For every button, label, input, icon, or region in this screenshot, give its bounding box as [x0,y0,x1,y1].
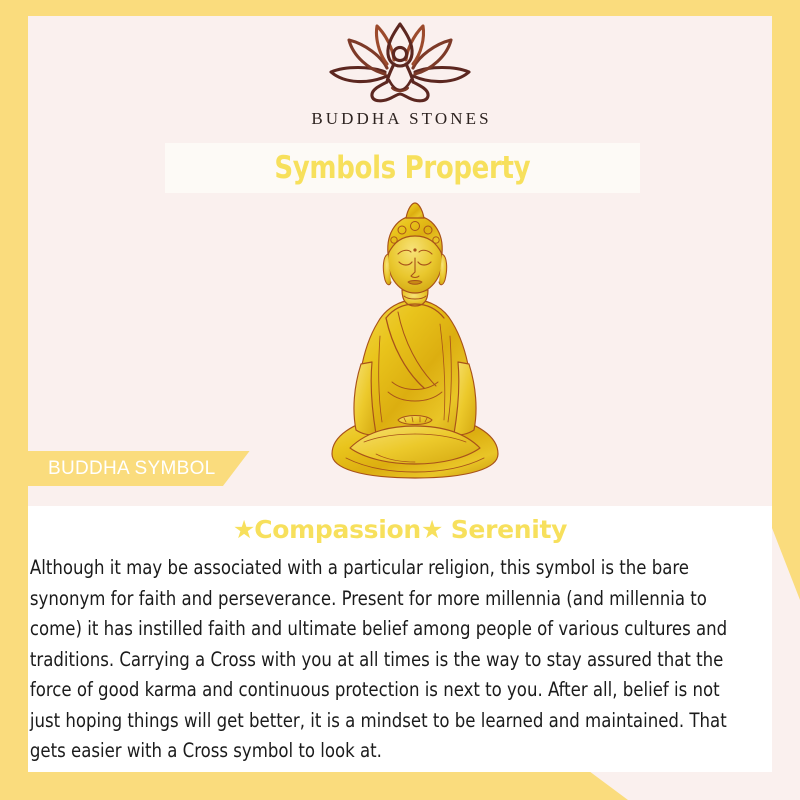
brand-wordmark: BUDDHA STONES [0,109,800,129]
lotus-meditation-icon [325,18,475,106]
brand-logo-block: BUDDHA STONES [0,18,800,129]
frame-bottom-bar [0,772,628,800]
section-subtitle: ★Compassion★ Serenity [28,515,772,544]
subtitle-word-compassion: Compassion [254,515,421,544]
buddha-symbol-tag-label: BUDDHA SYMBOL [48,458,216,480]
infographic-page: BUDDHA STONES Symbols Property [0,0,800,800]
section-body-text: Although it may be associated with a par… [28,553,739,767]
buddha-statue-image [320,196,510,492]
golden-seated-buddha-statue [320,196,510,492]
page-title: Symbols Property [275,150,531,186]
buddha-symbol-tag: BUDDHA SYMBOL [28,451,250,486]
subtitle-word-serenity: Serenity [451,515,567,544]
content-panel: ★Compassion★ Serenity Although it may be… [28,506,772,772]
frame-top-bar [0,0,800,16]
star-icon-2: ★ [421,515,442,544]
title-banner: Symbols Property [165,143,640,193]
star-icon-1: ★ [233,515,254,544]
frame-left-bar [0,16,28,800]
